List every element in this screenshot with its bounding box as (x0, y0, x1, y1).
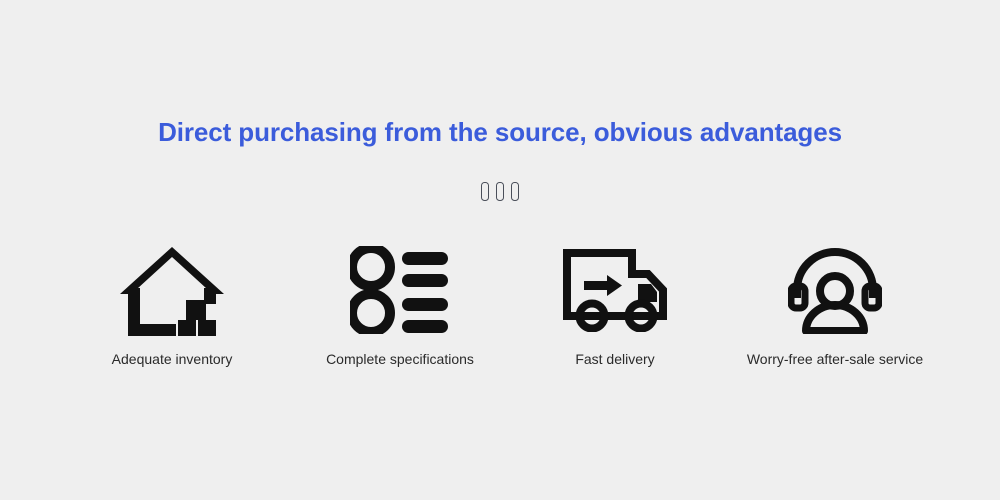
divider-pill-3 (511, 182, 519, 201)
feature-label: Fast delivery (575, 350, 654, 368)
feature-item-inventory: Adequate inventory (42, 240, 302, 368)
divider-pill-2 (496, 182, 504, 201)
promo-banner: Direct purchasing from the source, obvio… (0, 0, 1000, 500)
three-pill-divider (0, 182, 1000, 201)
feature-label: Worry-free after-sale service (747, 350, 923, 368)
warehouse-house-icon (120, 240, 224, 340)
divider-pill-1 (481, 182, 489, 201)
headset-support-icon (788, 240, 882, 340)
feature-label: Adequate inventory (112, 350, 233, 368)
page-title: Direct purchasing from the source, obvio… (0, 116, 1000, 148)
specification-list-icon (350, 240, 450, 340)
feature-label: Complete specifications (326, 350, 474, 368)
feature-item-support: Worry-free after-sale service (705, 240, 965, 368)
delivery-truck-icon (562, 240, 668, 340)
feature-list: Adequate inventory (0, 240, 1000, 385)
